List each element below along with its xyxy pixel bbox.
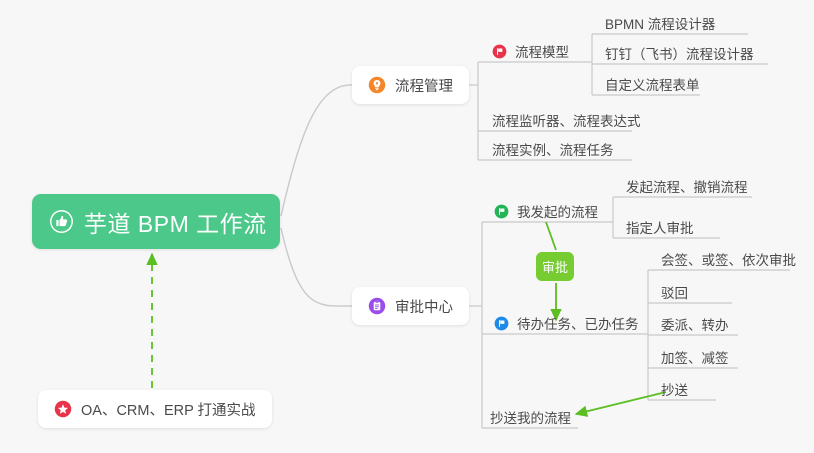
node-approval-center-label: 审批中心: [395, 296, 453, 317]
node-add-remove-sign-label: 加签、减签: [661, 347, 729, 367]
node-flow-management[interactable]: 流程管理: [352, 66, 469, 104]
star-icon: [54, 400, 72, 418]
node-flow-instance-task[interactable]: 流程实例、流程任务: [492, 138, 614, 160]
badge-approval-label: 审批: [542, 257, 568, 276]
node-custom-flow-form-label: 自定义流程表单: [605, 74, 700, 94]
node-oa-crm-erp[interactable]: OA、CRM、ERP 打通实战: [38, 390, 272, 428]
wire-root-to-approval-center: [281, 228, 352, 306]
node-flow-instance-task-label: 流程实例、流程任务: [492, 139, 614, 159]
node-delegate-transfer[interactable]: 委派、转办: [661, 313, 729, 335]
root-node[interactable]: 芋道 BPM 工作流: [32, 194, 280, 249]
node-my-initiated-flows-label: 我发起的流程: [517, 201, 598, 221]
node-flow-listener-expression-label: 流程监听器、流程表达式: [492, 110, 641, 130]
node-flow-management-label: 流程管理: [395, 75, 453, 96]
node-cc[interactable]: 抄送: [661, 378, 688, 400]
node-custom-flow-form[interactable]: 自定义流程表单: [605, 73, 700, 95]
node-bpmn-designer[interactable]: BPMN 流程设计器: [605, 12, 715, 34]
node-flow-model[interactable]: 流程模型: [492, 40, 569, 62]
node-bpmn-designer-label: BPMN 流程设计器: [605, 13, 715, 33]
node-reject-label: 驳回: [661, 282, 688, 302]
node-countersign-orsign-sequential[interactable]: 会签、或签、依次审批: [661, 248, 796, 270]
thumbs-up-icon: [49, 209, 74, 234]
node-todo-done-tasks-label: 待办任务、已办任务: [517, 313, 639, 333]
node-delegate-transfer-label: 委派、转办: [661, 314, 729, 334]
flag-icon: [494, 204, 509, 219]
node-dingtalk-feishu-designer[interactable]: 钉钉（飞书）流程设计器: [605, 42, 754, 64]
node-reject[interactable]: 驳回: [661, 281, 688, 303]
arrow-initiated-to-todo-part1: [546, 222, 556, 250]
flag-icon: [494, 316, 509, 331]
mindmap-canvas: 芋道 BPM 工作流 流程管理: [0, 0, 814, 453]
node-start-cancel-flow[interactable]: 发起流程、撤销流程: [626, 175, 748, 197]
flag-icon: [492, 44, 507, 59]
node-cc-my-flows[interactable]: 抄送我的流程: [490, 406, 571, 428]
node-flow-listener-expression[interactable]: 流程监听器、流程表达式: [492, 109, 641, 131]
node-todo-done-tasks[interactable]: 待办任务、已办任务: [494, 312, 639, 334]
node-designated-approver[interactable]: 指定人审批: [626, 216, 694, 238]
node-oa-crm-erp-label: OA、CRM、ERP 打通实战: [81, 399, 256, 420]
lightbulb-icon: [368, 76, 386, 94]
node-cc-my-flows-label: 抄送我的流程: [490, 407, 571, 427]
node-start-cancel-flow-label: 发起流程、撤销流程: [626, 176, 748, 196]
node-countersign-orsign-sequential-label: 会签、或签、依次审批: [661, 249, 796, 269]
node-dingtalk-feishu-designer-label: 钉钉（飞书）流程设计器: [605, 43, 754, 63]
node-designated-approver-label: 指定人审批: [626, 217, 694, 237]
node-approval-center[interactable]: 审批中心: [352, 287, 469, 325]
node-flow-model-label: 流程模型: [515, 41, 569, 61]
node-cc-label: 抄送: [661, 379, 688, 399]
wire-root-to-flow-management: [281, 85, 352, 216]
root-node-label: 芋道 BPM 工作流: [84, 205, 267, 239]
arrow-cc-to-cc-my-flows: [576, 392, 666, 414]
clipboard-icon: [368, 297, 386, 315]
node-add-remove-sign[interactable]: 加签、减签: [661, 346, 729, 368]
node-my-initiated-flows[interactable]: 我发起的流程: [494, 200, 598, 222]
badge-approval[interactable]: 审批: [536, 252, 574, 281]
